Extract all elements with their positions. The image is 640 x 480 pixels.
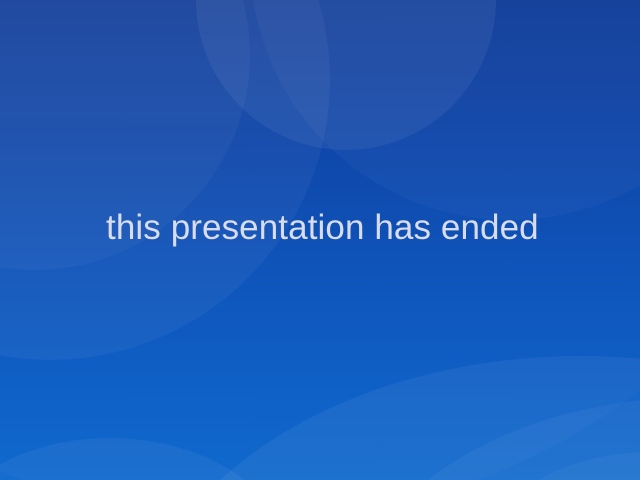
- bottom-right-inner-arc-shape: [470, 452, 640, 480]
- presentation-ended-message: this presentation has ended: [106, 206, 576, 250]
- bottom-right-mid-arc-shape: [330, 398, 640, 480]
- presentation-ended-slide: this presentation has ended: [0, 0, 640, 480]
- top-sheen-arc-shape: [250, 0, 640, 220]
- bottom-right-outer-arc-shape: [130, 356, 640, 480]
- top-left-outer-arc-shape: [0, 0, 330, 360]
- bottom-left-arc-shape: [0, 438, 290, 480]
- top-middle-blob-shape: [196, 0, 496, 150]
